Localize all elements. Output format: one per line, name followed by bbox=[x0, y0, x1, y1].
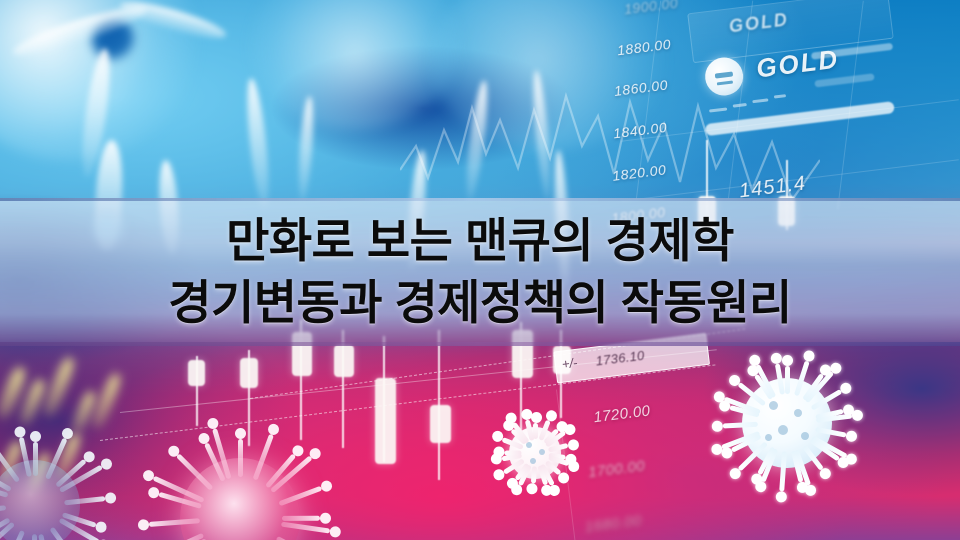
poster-title-line-2: 경기변동과 경제정책의 작동원리 bbox=[168, 272, 791, 334]
virus-spike bbox=[157, 531, 200, 540]
price-tick: 1680.00 bbox=[584, 512, 643, 536]
quote-value: 1736.10 bbox=[595, 348, 646, 369]
price-tick: 1900.00 bbox=[623, 0, 679, 17]
coronavirus-particle-blue bbox=[0, 430, 110, 540]
price-tick: 1720.00 bbox=[593, 402, 652, 426]
price-tick: 1860.00 bbox=[613, 77, 669, 99]
virus-spike bbox=[776, 459, 791, 500]
coronavirus-particle-pink bbox=[140, 418, 340, 540]
gold-coin-icon bbox=[703, 55, 745, 97]
poster-canvas: GOLD GOLD 1900.00 1880.00 1860.00 1840.0… bbox=[0, 0, 960, 540]
coronavirus-particle-small bbox=[492, 410, 578, 496]
price-tick: 1880.00 bbox=[616, 36, 672, 58]
virus-spike bbox=[716, 419, 752, 433]
price-tick: 1700.00 bbox=[587, 457, 646, 481]
price-tick: 1840.00 bbox=[612, 119, 668, 141]
poster-title-line-1: 만화로 보는 맨큐의 경제학 bbox=[226, 210, 734, 272]
coronavirus-particle-white bbox=[712, 348, 862, 498]
quote-prefix: +/- bbox=[561, 355, 578, 372]
virus-spike bbox=[497, 449, 514, 458]
price-tick: 1820.00 bbox=[611, 161, 667, 183]
virus-spike bbox=[233, 432, 248, 470]
title-banner: 만화로 보는 맨큐의 경제학 경기변동과 경제정책의 작동원리 bbox=[0, 198, 960, 346]
